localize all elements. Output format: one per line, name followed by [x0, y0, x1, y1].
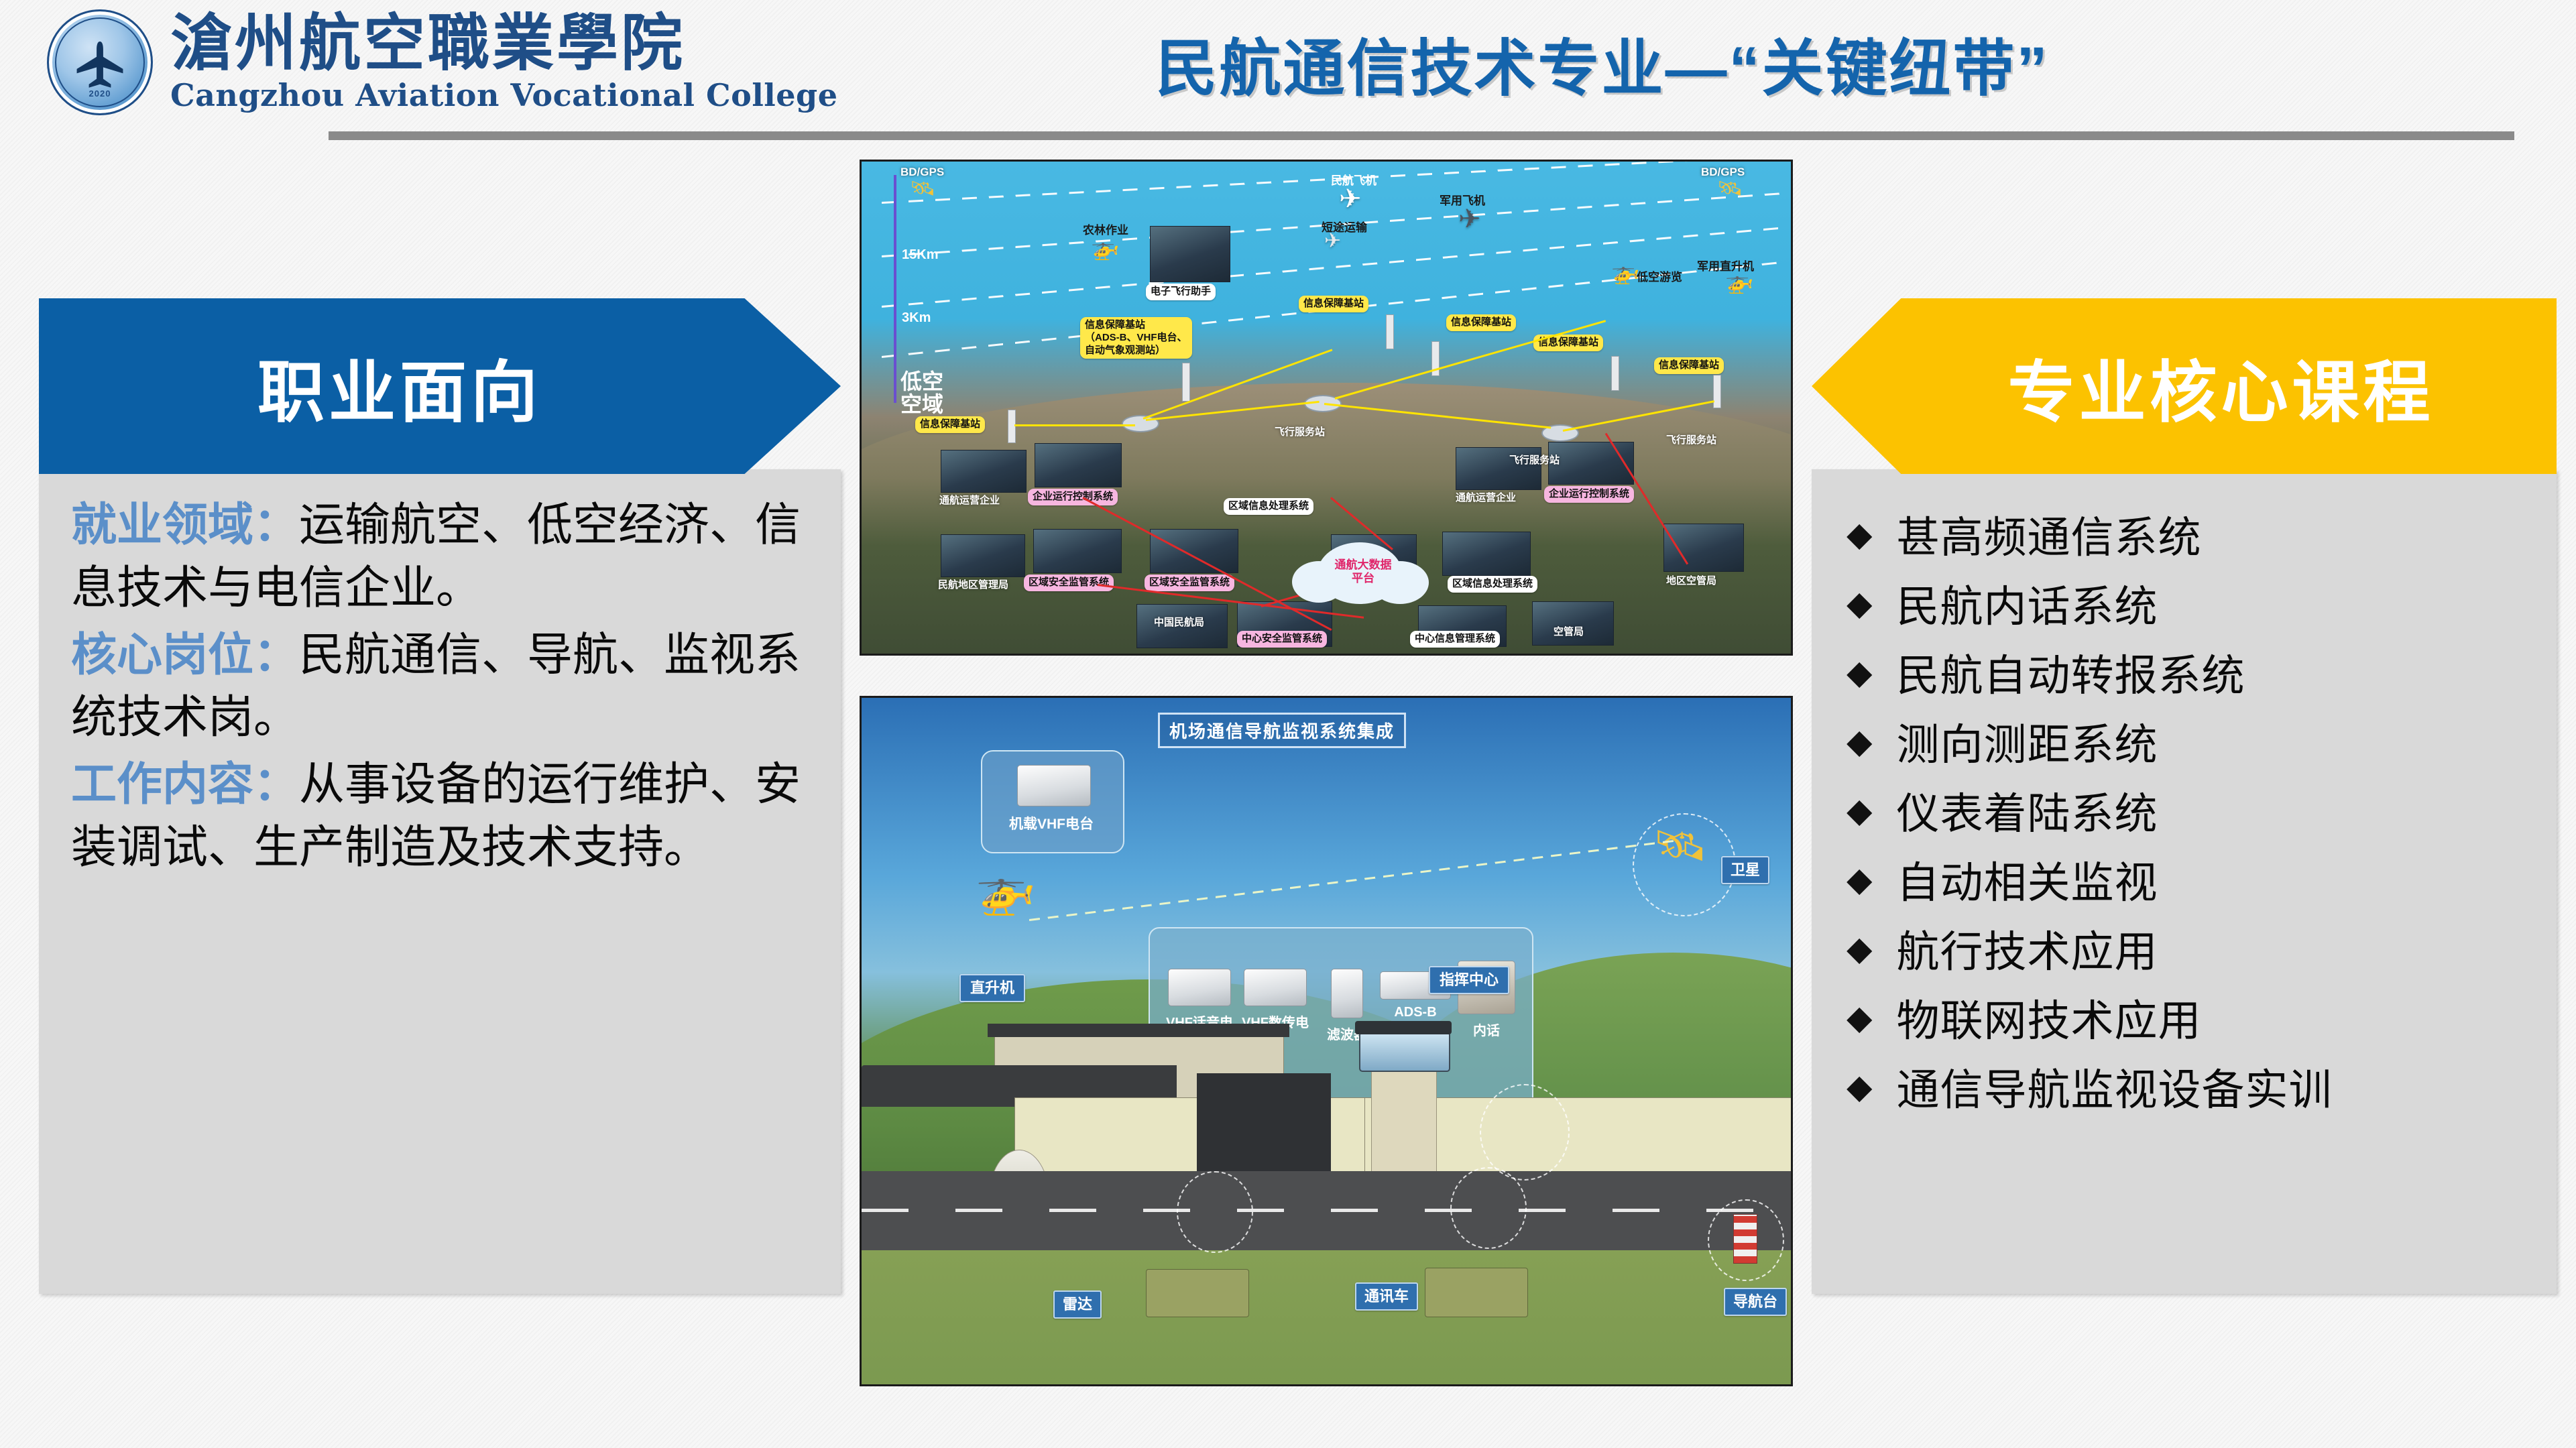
facility-photo	[941, 534, 1025, 577]
career-orientation-header: 职业面向	[39, 298, 841, 474]
runway-centerline	[862, 1209, 1793, 1212]
base-station-mast	[1713, 375, 1721, 408]
altitude-axis	[894, 175, 896, 403]
course-label: 民航内话系统	[1896, 572, 2158, 634]
ground-label: 空管局	[1554, 624, 1584, 638]
callout-base-station: 信息保障基站	[1654, 357, 1724, 374]
course-list: ◆甚高频通信系统 ◆民航内话系统 ◆民航自动转报系统 ◆测向测距系统 ◆仪表着陆…	[1847, 499, 2551, 1121]
airliner-icon: ✈	[1339, 186, 1362, 213]
facility-photo	[1442, 532, 1531, 576]
diamond-bullet-icon: ◆	[1847, 1001, 1872, 1034]
career-entry: 核心岗位：民航通信、导航、监视系统技术岗。	[71, 624, 809, 750]
diamond-bullet-icon: ◆	[1847, 863, 1872, 896]
base-station-mast	[1182, 363, 1190, 402]
comms-vehicle-icon	[1425, 1268, 1528, 1317]
career-orientation-title: 职业面向	[257, 338, 542, 435]
air-label: 军用直升机	[1697, 257, 1754, 274]
air-label: BD/GPS	[900, 166, 944, 179]
career-orientation-text: 就业领域：运输航空、低空经济、信息技术与电信企业。 核心岗位：民航通信、导航、监…	[71, 494, 809, 884]
military-jet-icon: ✈	[1458, 206, 1481, 233]
list-item[interactable]: ◆航行技术应用	[1847, 914, 2551, 983]
ground-label: 飞行服务站	[1275, 424, 1325, 438]
course-label: 甚高频通信系统	[1896, 503, 2201, 565]
college-logo: 2020 滄州航空職業學院 Cangzhou Aviation Vocation…	[47, 9, 837, 115]
college-name-cn: 滄州航空職業學院	[170, 12, 837, 74]
list-item[interactable]: ◆民航自动转报系统	[1847, 638, 2551, 707]
diamond-bullet-icon: ◆	[1847, 1070, 1872, 1103]
seal-year: 2020	[49, 88, 151, 99]
diamond-bullet-icon: ◆	[1847, 725, 1872, 758]
course-label: 测向测距系统	[1896, 711, 2158, 772]
control-tower-roof	[1355, 1021, 1452, 1034]
college-name-en: Cangzhou Aviation Vocational College	[170, 78, 837, 113]
altitude-tick-label: 15Km	[902, 247, 938, 263]
base-station-mast	[1611, 356, 1619, 391]
satellite-icon: 🛰	[1717, 179, 1743, 199]
ground-label: 通航运营企业	[1456, 490, 1516, 504]
list-item[interactable]: ◆民航内话系统	[1847, 568, 2551, 638]
ground-label: 中国民航局	[1154, 615, 1204, 629]
list-item[interactable]: ◆通信导航监视设备实训	[1847, 1052, 2551, 1121]
air-label: 低空游览	[1637, 267, 1682, 284]
building-roof	[988, 1024, 1289, 1037]
comms-vehicle-icon	[1146, 1269, 1249, 1317]
callout-base-station: 信息保障基站	[1299, 296, 1368, 312]
facility-photo	[1548, 442, 1634, 485]
facility-photo	[1033, 529, 1122, 573]
course-label: 民航自动转报系统	[1896, 642, 2245, 703]
slide-header: 2020 滄州航空職業學院 Cangzhou Aviation Vocation…	[0, 0, 2576, 144]
course-label: 物联网技术应用	[1896, 987, 2201, 1048]
callout-system: 区域信息处理系统	[1448, 576, 1537, 593]
marker-comms-vehicle: 通讯车	[1355, 1282, 1418, 1311]
core-courses-header: 专业核心课程	[1812, 298, 2557, 474]
ground-label: 通航运营企业	[939, 493, 1000, 507]
diamond-bullet-icon: ◆	[1847, 932, 1872, 965]
course-label: 自动相关监视	[1896, 849, 2158, 910]
callout-efb: 电子飞行助手	[1146, 284, 1216, 300]
career-entry-label: 核心岗位：	[71, 629, 299, 680]
callout-system: 中心信息管理系统	[1410, 631, 1500, 648]
list-item[interactable]: ◆测向测距系统	[1847, 707, 2551, 776]
building-shadow	[1197, 1073, 1331, 1174]
air-label: 短途运输	[1322, 218, 1367, 235]
signal-ring	[1177, 1171, 1253, 1253]
vhf-data-radio-icon	[1244, 969, 1307, 1006]
course-label: 仪表着陆系统	[1896, 780, 2158, 841]
diamond-bullet-icon: ◆	[1847, 794, 1872, 827]
course-label: 通信导航监视设备实训	[1896, 1056, 2332, 1118]
diamond-bullet-icon: ◆	[1847, 656, 1872, 689]
header-divider	[329, 131, 2514, 140]
diagram-title: 机场通信导航监视系统集成	[1158, 713, 1406, 748]
marker-satellite: 卫星	[1721, 856, 1769, 884]
equipment-label: 内话	[1473, 1024, 1500, 1038]
career-entry: 工作内容：从事设备的运行维护、安装调试、生产制造及技术支持。	[71, 753, 809, 880]
callout-system: 企业运行控制系统	[1544, 486, 1634, 503]
helicopter-icon: 🚁	[1091, 237, 1119, 259]
career-entry-label: 工作内容：	[71, 759, 299, 810]
control-tower-shaft	[1371, 1057, 1437, 1172]
callout-base-station: 信息保障基站	[915, 416, 985, 433]
air-label: 农林作业	[1083, 221, 1128, 237]
signal-ring	[1480, 1084, 1570, 1181]
ground-label: 飞行服务站	[1666, 432, 1716, 446]
callout-system: 中心安全监管系统	[1237, 631, 1327, 648]
diamond-bullet-icon: ◆	[1847, 518, 1872, 551]
core-courses-panel: 专业核心课程 ◆甚高频通信系统 ◆民航内话系统 ◆民航自动转报系统 ◆测向测距系…	[1812, 298, 2557, 1294]
callout-system: 区域信息处理系统	[1224, 498, 1313, 515]
list-item[interactable]: ◆自动相关监视	[1847, 845, 2551, 914]
base-station-mast	[1386, 314, 1394, 349]
signal-link	[1029, 839, 1682, 921]
career-orientation-panel: 职业面向 就业领域：运输航空、低空经济、信息技术与电信企业。 核心岗位：民航通信…	[39, 298, 841, 1294]
vhf-radio-icon	[1017, 765, 1091, 806]
air-label: 军用飞机	[1440, 191, 1485, 208]
low-altitude-network-diagram: 15Km 3Km 低空空域 🛰 BD/GPS ✈ 民航飞机 ✈ 军用飞机 🛰 B…	[860, 160, 1793, 656]
low-altitude-airspace-label: 低空空域	[900, 371, 943, 416]
air-label: BD/GPS	[1701, 166, 1745, 179]
callout-system: 企业运行控制系统	[1028, 489, 1118, 505]
air-label: 民航飞机	[1331, 171, 1377, 188]
network-edge	[1014, 424, 1135, 426]
marker-radar: 雷达	[1053, 1290, 1102, 1319]
airplane-icon	[72, 37, 127, 92]
callout-system: 区域安全监管系统	[1024, 575, 1114, 591]
career-entry-label: 就业领域：	[71, 499, 299, 550]
ground-label: 地区空管局	[1666, 573, 1716, 587]
equipment-label: ADS-B	[1394, 1005, 1436, 1020]
facility-photo	[1035, 443, 1122, 487]
marker-command-center: 指挥中心	[1429, 966, 1509, 994]
facility-photo	[1150, 529, 1238, 573]
helicopter-icon: 🚁	[976, 865, 1036, 914]
satellite-icon: 🛰	[910, 179, 935, 199]
callout-system: 区域安全监管系统	[1145, 575, 1234, 591]
helicopter-icon: 🚁	[1611, 261, 1639, 284]
grass-field	[862, 1250, 1793, 1386]
facility-photo	[1532, 601, 1614, 646]
vhf-voice-radio-icon	[1168, 969, 1231, 1006]
callout-label: 机载VHF电台	[981, 813, 1122, 833]
marker-helicopter: 直升机	[959, 974, 1025, 1002]
airport-cns-integration-diagram: 机场通信导航监视系统集成 🚁 机载VHF电台 直升机 🛰 卫星 VHF话音电台 …	[860, 696, 1793, 1386]
course-label: 航行技术应用	[1896, 918, 2158, 979]
big-data-cloud-label: 通航大数据 平台	[1322, 558, 1405, 586]
callout-base-station: 信息保障基站 （ADS-B、VHF电台、 自动气象观测站）	[1080, 317, 1192, 359]
marker-navaid: 导航台	[1724, 1288, 1787, 1316]
college-seal-icon: 2020	[47, 9, 153, 115]
efb-photo	[1150, 226, 1230, 282]
signal-ring	[1708, 1199, 1784, 1281]
career-entry: 就业领域：运输航空、低空经济、信息技术与电信企业。	[71, 494, 809, 620]
list-item[interactable]: ◆仪表着陆系统	[1847, 776, 2551, 845]
altitude-tick-label: 3Km	[902, 310, 931, 326]
control-tower-cab	[1359, 1032, 1450, 1072]
facility-photo	[941, 450, 1027, 493]
base-station-mast	[1008, 410, 1016, 443]
filter-icon	[1331, 969, 1363, 1018]
callout-base-station: 信息保障基站	[1446, 314, 1516, 331]
signal-ring	[1633, 813, 1736, 916]
military-helicopter-icon: 🚁	[1725, 270, 1753, 293]
diamond-bullet-icon: ◆	[1847, 587, 1872, 620]
core-courses-title: 专业核心课程	[2008, 338, 2435, 435]
list-item[interactable]: ◆物联网技术应用	[1847, 983, 2551, 1052]
ground-label: 飞行服务站	[1509, 452, 1560, 467]
page-title: 民航通信技术专业—“关键纽带”	[898, 19, 2306, 108]
ground-label: 民航地区管理局	[938, 577, 1008, 591]
list-item[interactable]: ◆甚高频通信系统	[1847, 499, 2551, 568]
